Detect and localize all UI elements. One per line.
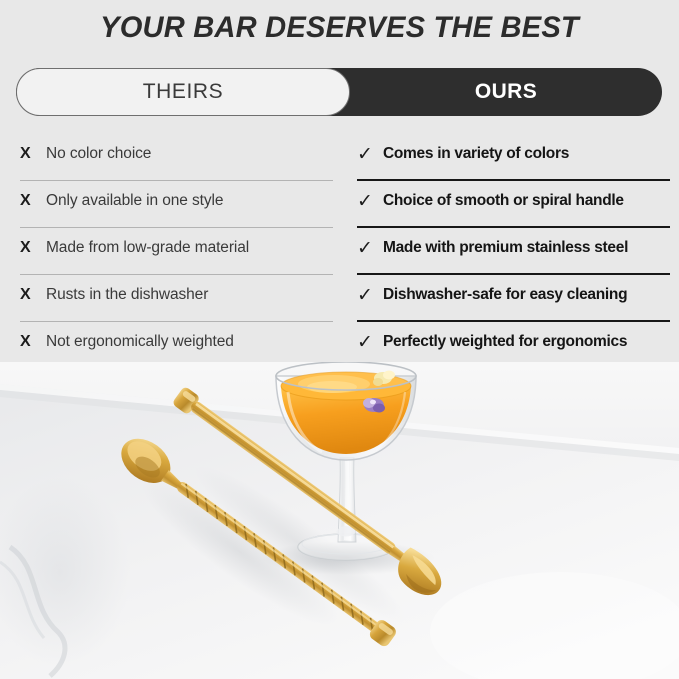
cross-icon: X xyxy=(16,193,46,209)
list-item-label: Dishwasher-safe for easy cleaning xyxy=(383,286,627,304)
list-item-label: Not ergonomically weighted xyxy=(46,333,234,351)
list-item-label: Only available in one style xyxy=(46,192,223,210)
theirs-ours-toggle[interactable]: THEIRS OURS xyxy=(16,68,662,116)
list-item-label: Comes in variety of colors xyxy=(383,145,569,163)
promo-comparison-card: YOUR BAR DESERVES THE BEST THEIRS OURS X… xyxy=(0,0,679,679)
list-item: X Only available in one style xyxy=(16,181,333,228)
check-icon: ✓ xyxy=(353,239,383,258)
list-item: X No color choice xyxy=(16,134,333,181)
column-theirs: X No color choice X Only available in on… xyxy=(16,134,333,369)
check-icon: ✓ xyxy=(353,333,383,352)
list-item-label: Made with premium stainless steel xyxy=(383,239,628,257)
list-item-label: Rusts in the dishwasher xyxy=(46,286,208,304)
column-ours: ✓ Comes in variety of colors ✓ Choice of… xyxy=(353,134,670,369)
check-icon: ✓ xyxy=(353,145,383,164)
list-item-label: Made from low-grade material xyxy=(46,239,249,257)
list-item: ✓ Dishwasher-safe for easy cleaning xyxy=(353,275,670,322)
list-item: ✓ Made with premium stainless steel xyxy=(353,228,670,275)
page-title: YOUR BAR DESERVES THE BEST xyxy=(10,11,669,45)
list-item-label: Choice of smooth or spiral handle xyxy=(383,192,624,210)
check-icon: ✓ xyxy=(353,286,383,305)
cross-icon: X xyxy=(16,240,46,256)
check-icon: ✓ xyxy=(353,192,383,211)
list-item: ✓ Choice of smooth or spiral handle xyxy=(353,181,670,228)
list-item-label: Perfectly weighted for ergonomics xyxy=(383,333,627,351)
toggle-label-theirs[interactable]: THEIRS xyxy=(16,68,350,116)
cross-icon: X xyxy=(16,287,46,303)
product-photo xyxy=(0,362,679,679)
cross-icon: X xyxy=(16,334,46,350)
list-item: X Made from low-grade material xyxy=(16,228,333,275)
comparison-columns: X No color choice X Only available in on… xyxy=(0,134,679,362)
list-item: X Rusts in the dishwasher xyxy=(16,275,333,322)
list-item-label: No color choice xyxy=(46,145,151,163)
cross-icon: X xyxy=(16,146,46,162)
toggle-label-ours[interactable]: OURS xyxy=(350,68,662,116)
list-item: ✓ Comes in variety of colors xyxy=(353,134,670,181)
